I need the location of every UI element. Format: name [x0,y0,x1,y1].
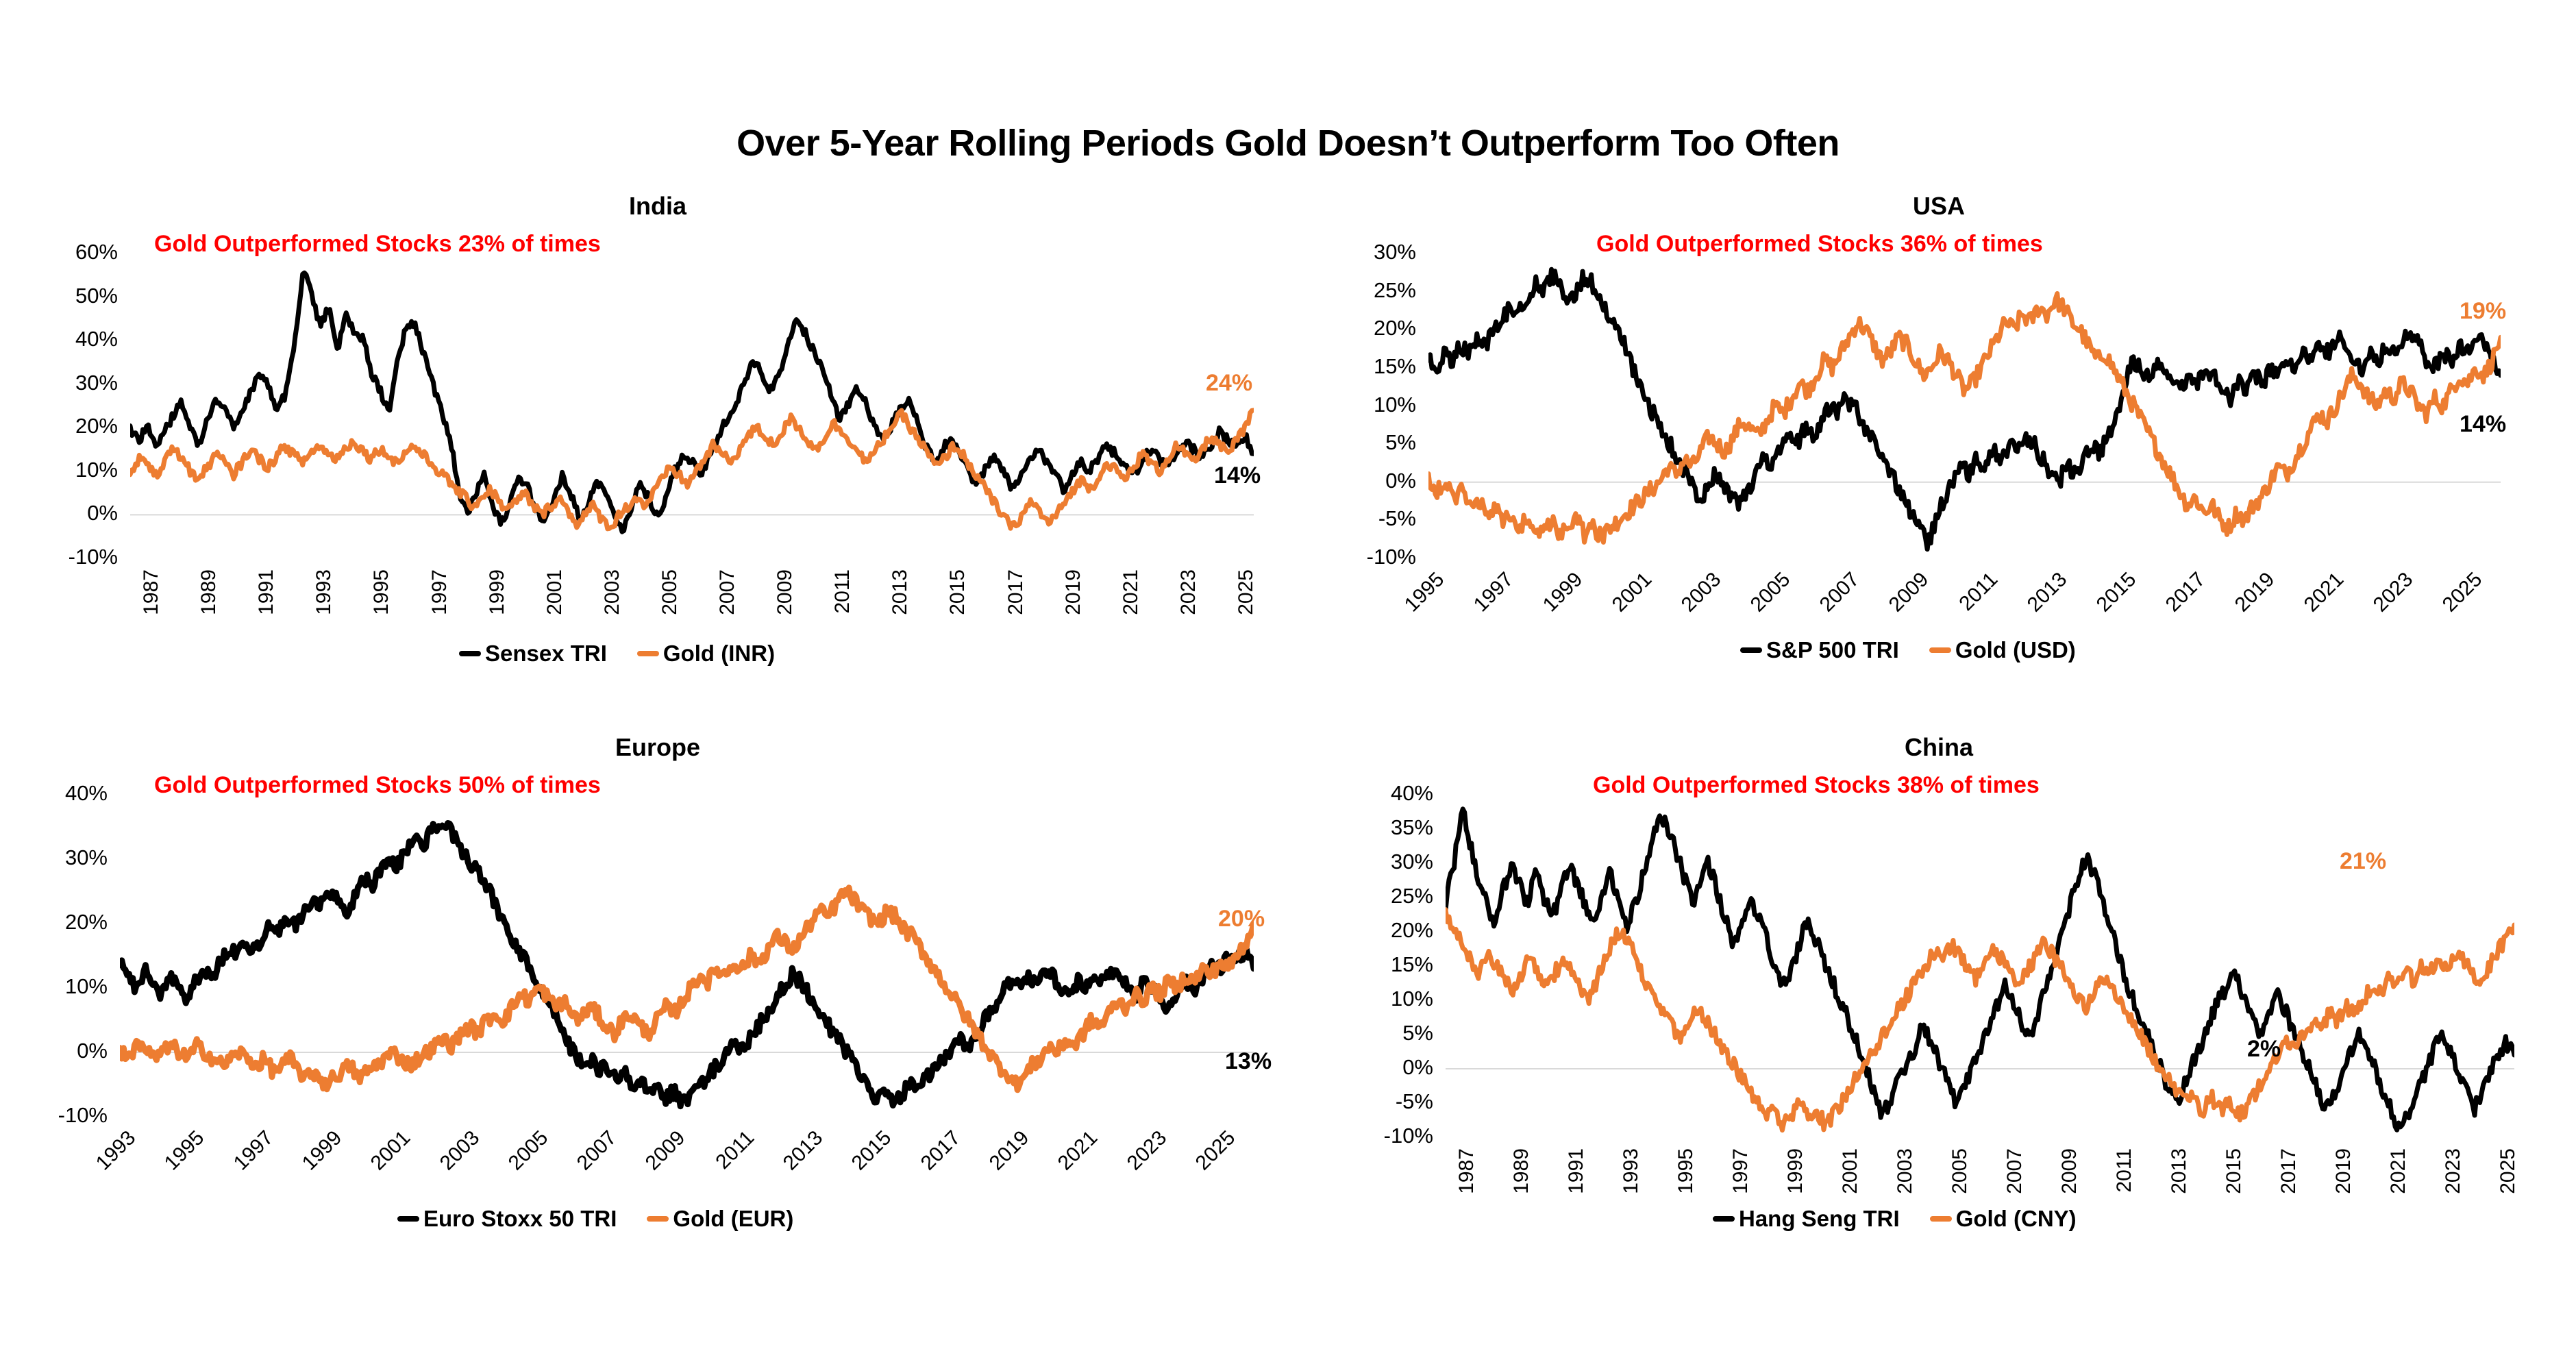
y-tick-usa: 30% [1306,241,1416,262]
y-tick-usa: -5% [1306,508,1416,529]
y-tick-usa: 25% [1306,280,1416,301]
y-tick-europe: -10% [0,1104,108,1126]
legend-item-gold: Gold (USD) [1929,637,2076,663]
x-tick-india: 1997 [428,569,451,615]
y-tick-usa: 20% [1306,317,1416,338]
y-tick-china: 20% [1324,919,1433,941]
x-tick-china: 1989 [1510,1148,1533,1194]
legend-label-gold: Gold (USD) [1955,637,2076,663]
legend-item-stock: Euro Stoxx 50 TRI [397,1206,617,1232]
legend-swatch-stock-icon [459,651,481,656]
x-tick-india: 1999 [486,569,509,615]
chart-svg-india [130,253,1254,558]
x-tick-india: 2019 [1062,569,1085,615]
panel-usa: USA Gold Outperformed Stocks 36% of time… [1322,192,2555,699]
x-tick-usa: 1995 [1400,568,1449,617]
x-tick-europe: 1993 [92,1126,140,1175]
series-line-stock [130,273,1254,532]
end-label-gold-europe: 20% [1218,906,1265,932]
x-tick-europe: 2007 [573,1126,621,1175]
chart-svg-europe [120,795,1254,1117]
x-tick-europe: 1995 [160,1126,209,1175]
x-tick-china: 2023 [2442,1148,2465,1194]
x-tick-india: 2015 [946,569,969,615]
x-tick-china: 2025 [2497,1148,2520,1194]
x-tick-usa: 2007 [1816,568,1864,617]
x-tick-india: 2023 [1177,569,1200,615]
x-tick-china: 1991 [1565,1148,1588,1194]
legend-item-gold: Gold (INR) [637,641,775,667]
panel-europe: Europe Gold Outperformed Stocks 50% of t… [41,733,1274,1254]
x-tick-china: 1999 [1784,1148,1807,1194]
page-title: Over 5-Year Rolling Periods Gold Doesn’t… [0,122,2576,164]
y-tick-europe: 40% [0,782,108,804]
x-tick-europe: 2003 [435,1126,484,1175]
y-tick-india: 50% [8,285,118,306]
x-tick-europe: 2015 [847,1126,896,1175]
x-tick-europe: 2009 [641,1126,690,1175]
y-tick-india: 20% [8,415,118,436]
y-tick-europe: 10% [0,976,108,997]
legend-item-stock: Hang Seng TRI [1713,1206,1900,1232]
y-tick-europe: 20% [0,911,108,932]
chart-page: Over 5-Year Rolling Periods Gold Doesn’t… [0,0,2576,1349]
y-tick-india: 10% [8,459,118,480]
legend-label-gold: Gold (INR) [663,641,775,667]
y-tick-china: 25% [1324,885,1433,906]
series-line-stock [1428,269,2501,549]
legend-india: Sensex TRI Gold (INR) [459,641,775,667]
x-tick-usa: 2005 [1746,568,1795,617]
end-label-stock-europe: 13% [1225,1048,1272,1075]
y-tick-china: 10% [1324,988,1433,1009]
y-tick-europe: 0% [0,1040,108,1061]
x-tick-india: 1989 [197,569,221,615]
y-tick-india: -10% [8,546,118,567]
legend-swatch-gold-icon [1929,647,1951,653]
x-tick-india: 1995 [370,569,393,615]
x-tick-usa: 2017 [2161,568,2209,617]
x-tick-usa: 1999 [1539,568,1587,617]
x-tick-india: 2007 [716,569,739,615]
end-label-gold-china: 21% [2340,848,2386,875]
end-label-gold-india: 24% [1206,370,1252,397]
y-tick-china: 40% [1324,782,1433,804]
x-tick-china: 2007 [2003,1148,2027,1194]
legend-label-gold: Gold (EUR) [673,1206,793,1232]
y-tick-india: 30% [8,372,118,393]
x-tick-china: 2003 [1894,1148,1917,1194]
y-tick-china: 15% [1324,954,1433,975]
x-tick-china: 2017 [2277,1148,2301,1194]
x-tick-europe: 2023 [1122,1126,1171,1175]
legend-swatch-gold-icon [647,1216,669,1222]
y-tick-india: 0% [8,502,118,523]
x-tick-usa: 2009 [1885,568,1933,617]
x-tick-usa: 2021 [2299,568,2348,617]
end-label-stock-china: 2% [2247,1036,2281,1063]
y-tick-india: 40% [8,328,118,349]
y-tick-usa: 0% [1306,470,1416,491]
x-tick-china: 2019 [2332,1148,2355,1194]
x-tick-europe: 2011 [711,1126,759,1174]
panel-title-usa: USA [1322,192,2555,221]
legend-swatch-stock-icon [397,1216,419,1222]
x-tick-china: 1995 [1674,1148,1698,1194]
x-tick-india: 2025 [1235,569,1258,615]
x-tick-europe: 2019 [985,1126,1034,1175]
x-tick-europe: 2017 [916,1126,965,1175]
y-tick-usa: 15% [1306,356,1416,377]
x-tick-usa: 2019 [2230,568,2279,617]
legend-item-gold: Gold (EUR) [647,1206,793,1232]
x-tick-india: 2013 [889,569,912,615]
panel-title-india: India [41,192,1274,221]
chart-svg-usa [1428,253,2501,558]
x-tick-china: 1997 [1729,1148,1753,1194]
legend-china: Hang Seng TRI Gold (CNY) [1713,1206,2077,1232]
x-tick-china: 1987 [1455,1148,1478,1194]
y-tick-usa: -10% [1306,546,1416,567]
legend-label-stock: Sensex TRI [485,641,607,667]
x-tick-china: 2011 [2113,1148,2136,1193]
legend-label-stock: Hang Seng TRI [1739,1206,1900,1232]
legend-label-gold: Gold (CNY) [1956,1206,2077,1232]
x-tick-china: 2009 [2058,1148,2081,1194]
x-tick-europe: 2025 [1191,1126,1240,1175]
x-tick-usa: 2011 [1955,568,2003,616]
x-tick-usa: 2015 [2092,568,2140,617]
legend-label-stock: Euro Stoxx 50 TRI [423,1206,617,1232]
end-label-stock-india: 14% [1214,462,1261,489]
x-tick-usa: 2003 [1677,568,1726,617]
x-tick-india: 2011 [831,569,854,614]
y-tick-china: 0% [1324,1056,1433,1078]
panel-china: China Gold Outperformed Stocks 38% of ti… [1322,733,2555,1254]
chart-svg-china [1446,795,2514,1137]
x-tick-india: 2009 [773,569,797,615]
plot-india: 60%50%40%30%20%10%0%-10%1987198919911993… [130,253,1254,558]
y-tick-usa: 10% [1306,394,1416,415]
x-tick-china: 2013 [2168,1148,2191,1194]
x-tick-usa: 1997 [1470,568,1518,617]
legend-item-stock: Sensex TRI [459,641,607,667]
x-tick-china: 2015 [2222,1148,2246,1194]
legend-item-stock: S&P 500 TRI [1740,637,1899,663]
legend-swatch-stock-icon [1713,1216,1735,1222]
series-line-gold [1446,910,2514,1130]
x-tick-india: 2021 [1119,569,1143,615]
plot-europe: 40%30%20%10%0%-10%1993199519971999200120… [120,795,1254,1117]
legend-europe: Euro Stoxx 50 TRI Gold (EUR) [397,1206,793,1232]
x-tick-usa: 2001 [1608,568,1657,617]
legend-swatch-stock-icon [1740,647,1762,653]
y-tick-usa: 5% [1306,432,1416,453]
panel-title-europe: Europe [41,733,1274,762]
x-tick-india: 1993 [312,569,336,615]
x-tick-europe: 2001 [367,1126,415,1175]
x-tick-europe: 2005 [504,1126,553,1175]
y-tick-china: -10% [1324,1125,1433,1146]
legend-label-stock: S&P 500 TRI [1766,637,1899,663]
x-tick-usa: 2025 [2438,568,2486,617]
y-tick-china: 5% [1324,1022,1433,1043]
x-tick-china: 1993 [1620,1148,1643,1194]
x-tick-europe: 2013 [779,1126,828,1175]
x-tick-india: 2005 [658,569,682,615]
y-tick-europe: 30% [0,847,108,868]
plot-china: 40%35%30%25%20%15%10%5%0%-5%-10%19871989… [1446,795,2514,1137]
x-tick-usa: 2013 [2023,568,2072,617]
y-tick-china: 35% [1324,817,1433,838]
legend-usa: S&P 500 TRI Gold (USD) [1740,637,2076,663]
x-tick-europe: 1997 [229,1126,277,1175]
panel-title-china: China [1322,733,2555,762]
x-tick-europe: 2021 [1054,1126,1102,1175]
x-tick-india: 1991 [255,569,278,615]
y-tick-china: -5% [1324,1091,1433,1112]
legend-swatch-gold-icon [637,651,659,656]
legend-swatch-gold-icon [1930,1216,1952,1222]
x-tick-usa: 2023 [2368,568,2417,617]
x-tick-india: 2001 [543,569,567,615]
x-tick-india: 1987 [140,569,163,615]
panel-india: India Gold Outperformed Stocks 23% of ti… [41,192,1274,699]
end-label-gold-usa: 19% [2460,298,2506,325]
x-tick-china: 2005 [1948,1148,1972,1194]
legend-item-gold: Gold (CNY) [1930,1206,2077,1232]
x-tick-china: 2021 [2387,1148,2410,1194]
y-tick-china: 30% [1324,851,1433,872]
x-tick-india: 2003 [601,569,624,615]
x-tick-china: 2001 [1839,1148,1862,1194]
x-tick-europe: 1999 [298,1126,347,1175]
plot-usa: 30%25%20%15%10%5%0%-5%-10%19951997199920… [1428,253,2501,558]
y-tick-india: 60% [8,241,118,262]
end-label-stock-usa: 14% [2460,411,2506,438]
x-tick-india: 2017 [1004,569,1028,615]
